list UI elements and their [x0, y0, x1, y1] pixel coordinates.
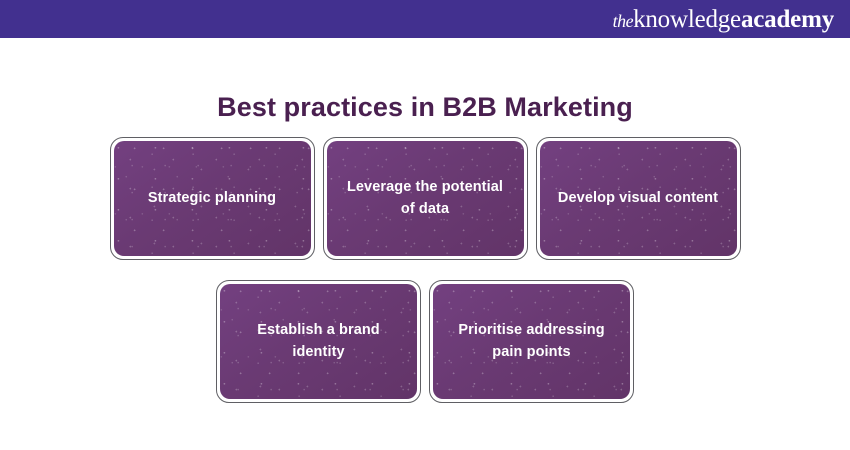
card-label: Develop visual content — [544, 188, 732, 209]
card-strategic-planning[interactable]: Strategic planning — [110, 137, 315, 260]
logo-word-knowledge: knowledge — [633, 6, 741, 33]
card-surface: Establish a brand identity — [220, 284, 417, 399]
logo-word-the: the — [613, 11, 634, 31]
cards-row-bottom: Establish a brand identity Prioritise ad… — [0, 280, 850, 403]
card-develop-visual-content[interactable]: Develop visual content — [536, 137, 741, 260]
card-label: Establish a brand identity — [220, 320, 417, 362]
card-label: Prioritise addressing pain points — [433, 320, 630, 362]
logo-word-academy: academy — [741, 6, 834, 33]
card-leverage-potential-of-data[interactable]: Leverage the potential of data — [323, 137, 528, 260]
the-knowledge-academy-logo: theknowledgeacademy — [613, 7, 834, 32]
page-title: Best practices in B2B Marketing — [0, 92, 850, 123]
card-prioritise-addressing-pain-points[interactable]: Prioritise addressing pain points — [429, 280, 634, 403]
card-surface: Leverage the potential of data — [327, 141, 524, 256]
card-surface: Strategic planning — [114, 141, 311, 256]
header-bar: theknowledgeacademy — [0, 0, 850, 38]
card-label: Strategic planning — [134, 188, 290, 209]
card-surface: Develop visual content — [540, 141, 737, 256]
card-surface: Prioritise addressing pain points — [433, 284, 630, 399]
cards-row-top: Strategic planning Leverage the potentia… — [0, 137, 850, 260]
cards-container: Strategic planning Leverage the potentia… — [0, 137, 850, 403]
card-label: Leverage the potential of data — [327, 177, 524, 219]
card-establish-a-brand-identity[interactable]: Establish a brand identity — [216, 280, 421, 403]
